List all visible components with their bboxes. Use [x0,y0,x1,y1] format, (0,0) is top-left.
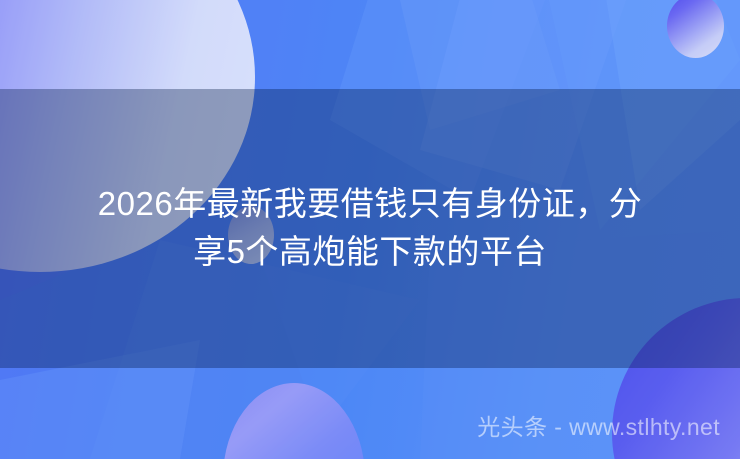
watermark: 光头条 - www.stlhty.net [477,412,720,442]
band-top [0,0,740,89]
title-line-2: 享5个高炮能下款的平台 [0,228,740,276]
cover-title: 2026年最新我要借钱只有身份证，分 享5个高炮能下款的平台 [0,180,740,276]
artwork-layer-top [0,0,740,89]
cover-image: 2026年最新我要借钱只有身份证，分 享5个高炮能下款的平台 光头条 - www… [0,0,740,459]
title-line-1: 2026年最新我要借钱只有身份证，分 [0,180,740,228]
decorative-ellipse-left [0,0,255,89]
